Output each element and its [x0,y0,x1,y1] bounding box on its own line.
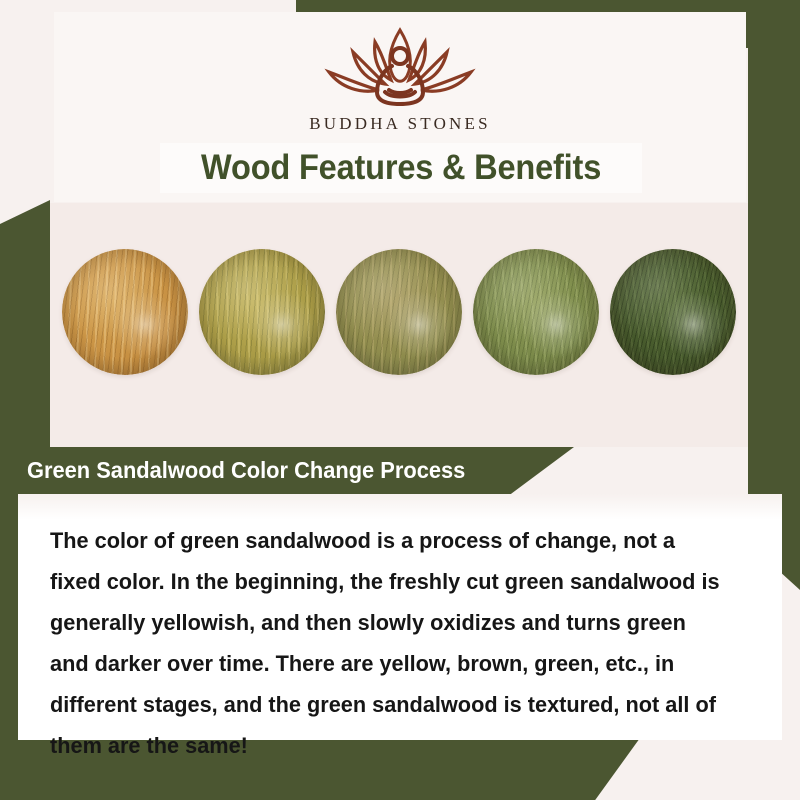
bead-stage-5-dark-green [610,249,736,375]
beads-row [50,249,748,375]
bead-shading [62,249,188,375]
description-text: The color of green sandalwood is a proce… [50,520,726,766]
bead-stage-2-yellow-green [199,249,325,375]
bead-stage-1-yellow-brown [62,249,188,375]
page-title: Wood Features & Benefits [201,148,601,188]
bead-shading [199,249,325,375]
bead-shading [473,249,599,375]
page-title-banner: Wood Features & Benefits [160,143,642,193]
lotus-meditation-icon [305,20,495,112]
section-title: Green Sandalwood Color Change Process [27,457,465,484]
bead-stage-4-green [473,249,599,375]
section-header-banner: Green Sandalwood Color Change Process [0,447,574,494]
bead-shading [610,249,736,375]
panel-top-fade [18,494,782,520]
bead-stage-3-olive [336,249,462,375]
brand-logo: BUDDHA STONES [0,20,800,134]
bead-shading [336,249,462,375]
beads-band [50,203,748,447]
infographic-page: BUDDHA STONES Wood Features & Benefits [0,0,800,800]
description-panel: The color of green sandalwood is a proce… [18,494,782,740]
brand-name: BUDDHA STONES [0,114,800,134]
